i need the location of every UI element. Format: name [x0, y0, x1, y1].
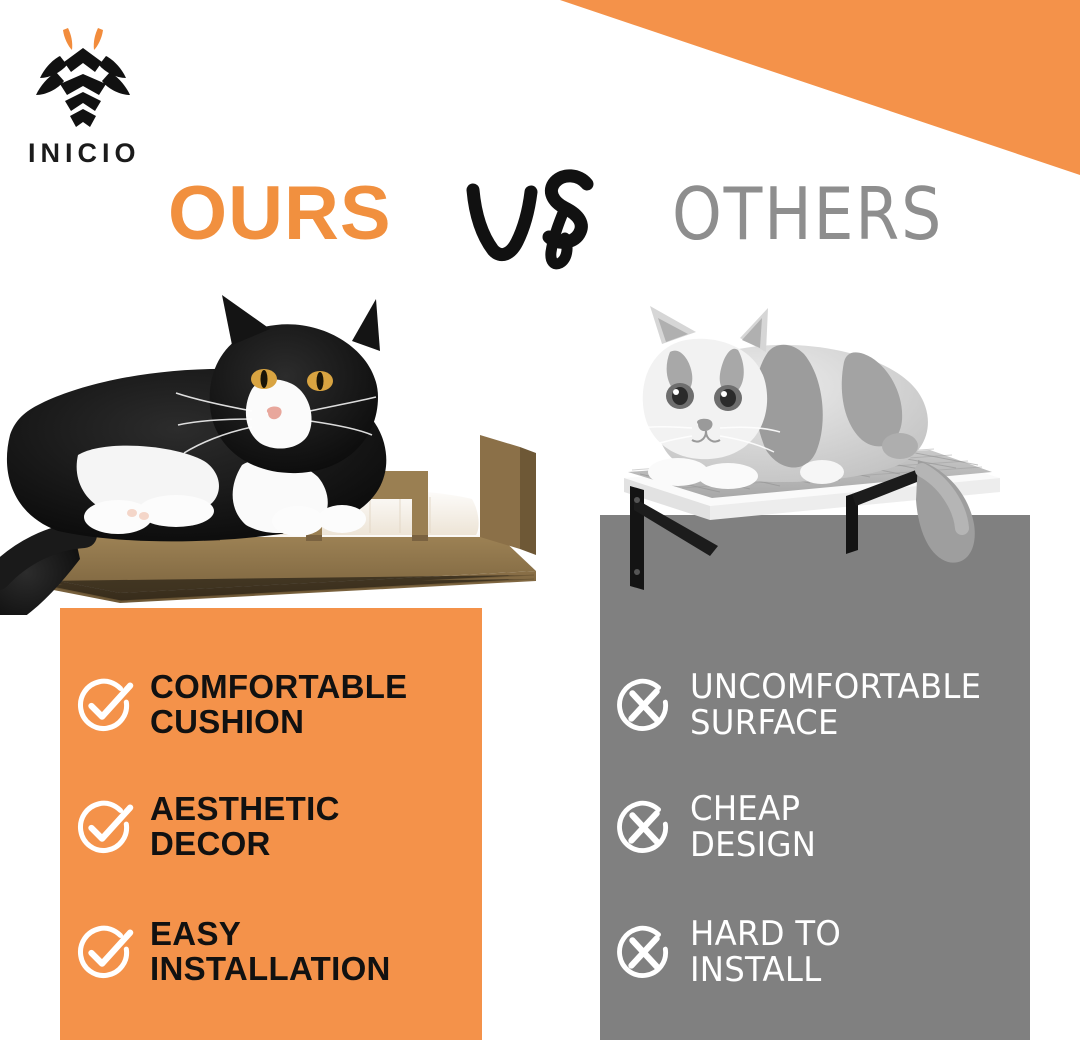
others-feature-row-2: CHEAP DESIGN — [600, 771, 1030, 883]
ours-feature-label-3: EASY INSTALLATION — [150, 917, 391, 987]
ours-feature-label-1: COMFORTABLE CUSHION — [150, 670, 408, 740]
ours-feature-row-1: COMFORTABLE CUSHION — [60, 648, 482, 762]
corner-banner-decoration — [560, 0, 1080, 175]
ours-feature-label-2: AESTHETIC DECOR — [150, 792, 340, 862]
others-feature-label-2: CHEAP DESIGN — [690, 791, 816, 863]
x-circle-icon — [614, 921, 676, 983]
ours-feature-row-3: EASY INSTALLATION — [60, 892, 482, 1012]
brand-logo: INICIO — [22, 22, 172, 167]
check-circle-icon — [74, 674, 136, 736]
others-feature-label-3: HARD TO INSTALL — [690, 916, 841, 988]
brand-wordmark: INICIO — [28, 140, 172, 167]
infographic-canvas: INICIO OURS OTHERS — [0, 0, 1080, 1040]
others-feature-row-1: UNCOMFORTABLE SURFACE — [600, 648, 1030, 762]
check-circle-icon — [74, 796, 136, 858]
ours-feature-row-2: AESTHETIC DECOR — [60, 771, 482, 883]
ours-product-photo — [0, 285, 550, 615]
x-circle-icon — [614, 796, 676, 858]
headline-ours: OURS — [168, 176, 392, 252]
headline-others: OTHERS — [672, 178, 943, 250]
others-feature-row-3: HARD TO INSTALL — [600, 892, 1030, 1012]
others-feature-list: UNCOMFORTABLE SURFACE CHEAP DESIGN HARD … — [600, 648, 1030, 1021]
ours-feature-list: COMFORTABLE CUSHION AESTHETIC DECOR EASY… — [60, 648, 482, 1021]
others-product-photo — [600, 300, 1020, 595]
others-feature-label-1: UNCOMFORTABLE SURFACE — [690, 669, 981, 741]
headline-row: OURS OTHERS — [0, 168, 1080, 280]
bee-chevron-logo-icon — [22, 22, 142, 134]
check-circle-icon — [74, 921, 136, 983]
x-circle-icon — [614, 674, 676, 736]
headline-vs-script — [455, 160, 615, 280]
